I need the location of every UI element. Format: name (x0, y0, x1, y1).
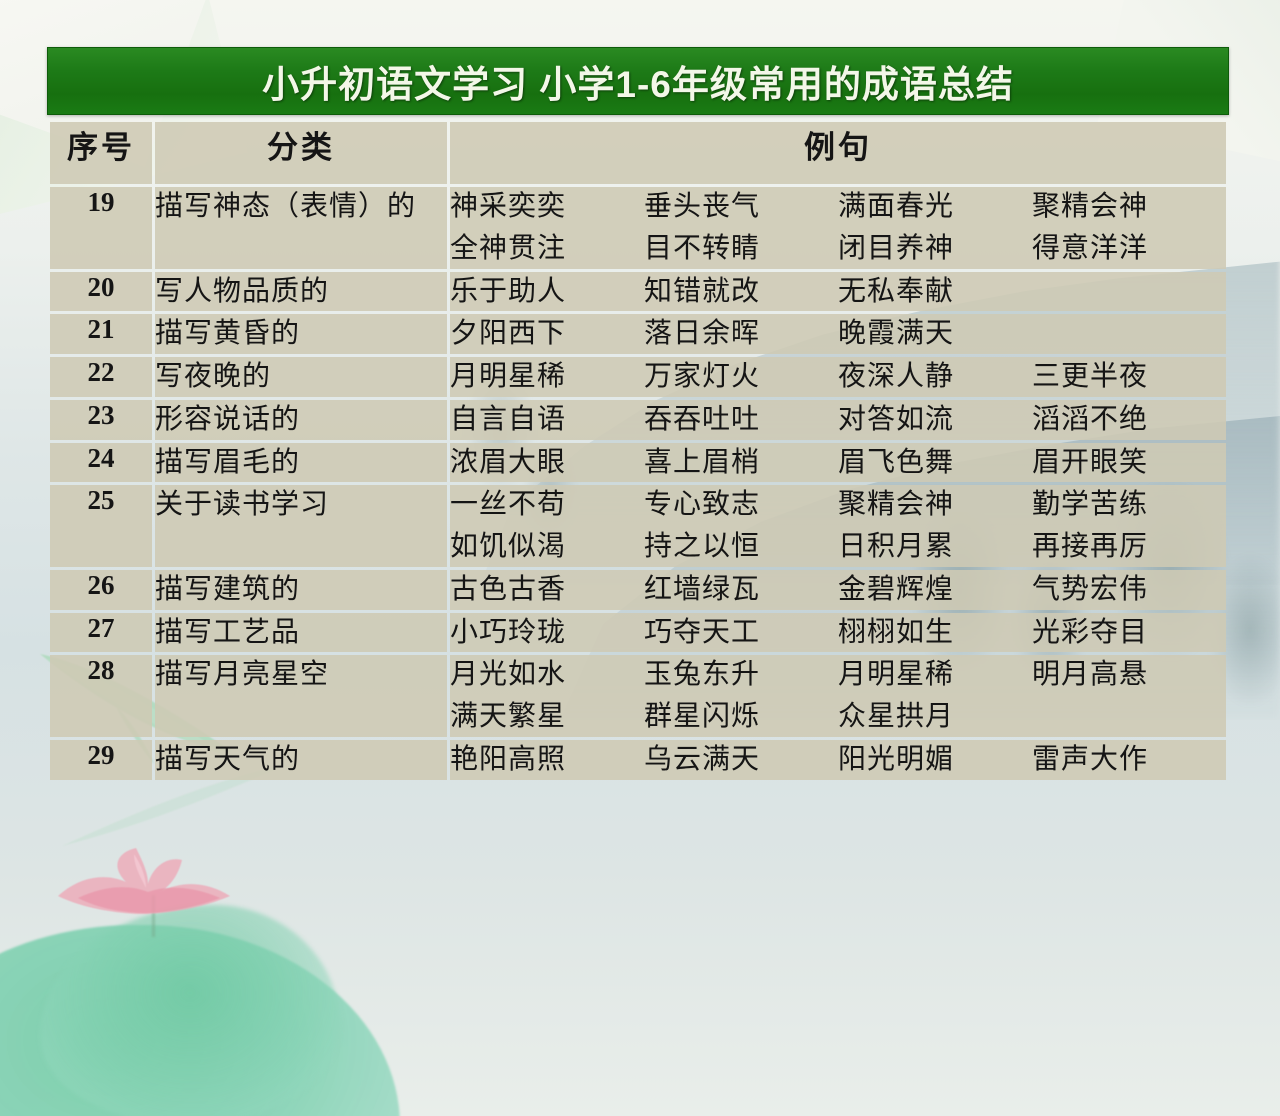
row-number-cell: 28 (50, 655, 152, 737)
idiom-item: 知错就改 (644, 272, 838, 312)
table-row: 21描写黄昏的夕阳西下落日余晖晚霞满天 (50, 314, 1226, 354)
examples-grid: 月光如水玉兔东升月明星稀明月高悬满天繁星群星闪烁众星拱月 (450, 655, 1226, 737)
category-cell: 描写眉毛的 (155, 443, 447, 483)
idiom-table-container: 小升初语文学习 小学1-6年级常用的成语总结 序号 分类 例句 19描写神态（表… (47, 47, 1229, 783)
row-number-cell: 22 (50, 357, 152, 397)
idiom-item: 夜深人静 (838, 357, 1032, 397)
idiom-item: 阳光明媚 (838, 740, 1032, 780)
idiom-item: 三更半夜 (1032, 357, 1226, 397)
examples-grid: 自言自语吞吞吐吐对答如流滔滔不绝 (450, 400, 1226, 440)
idiom-item: 月明星稀 (450, 357, 644, 397)
table-row: 28描写月亮星空月光如水玉兔东升月明星稀明月高悬满天繁星群星闪烁众星拱月 (50, 655, 1226, 737)
table-row: 29描写天气的艳阳高照乌云满天阳光明媚雷声大作 (50, 740, 1226, 780)
idiom-item: 月明星稀 (838, 655, 1032, 695)
row-number-cell: 24 (50, 443, 152, 483)
idiom-item: 专心致志 (644, 485, 838, 525)
idiom-item: 光彩夺目 (1032, 613, 1226, 653)
idiom-item: 月光如水 (450, 655, 644, 695)
idiom-item: 得意洋洋 (1032, 229, 1226, 269)
page-title: 小升初语文学习 小学1-6年级常用的成语总结 (262, 54, 1014, 108)
idiom-item: 勤学苦练 (1032, 485, 1226, 525)
idiom-item: 日积月累 (838, 527, 1032, 567)
category-cell: 形容说话的 (155, 400, 447, 440)
idiom-item: 神采奕奕 (450, 187, 644, 227)
idiom-item: 目不转睛 (644, 229, 838, 269)
idiom-item: 如饥似渴 (450, 527, 644, 567)
examples-cell: 神采奕奕垂头丧气满面春光聚精会神全神贯注目不转睛闭目养神得意洋洋 (450, 187, 1226, 269)
category-cell: 写人物品质的 (155, 272, 447, 312)
category-cell: 描写工艺品 (155, 613, 447, 653)
idiom-item: 吞吞吐吐 (644, 400, 838, 440)
slide-page: 小升初语文学习 小学1-6年级常用的成语总结 序号 分类 例句 19描写神态（表… (0, 0, 1280, 1116)
idiom-item: 聚精会神 (1032, 187, 1226, 227)
idiom-item: 喜上眉梢 (644, 443, 838, 483)
idiom-item: 眉飞色舞 (838, 443, 1032, 483)
idiom-item: 万家灯火 (644, 357, 838, 397)
idiom-item: 众星拱月 (838, 697, 1032, 737)
idiom-item: 自言自语 (450, 400, 644, 440)
column-header-number: 序号 (50, 122, 152, 184)
idiom-item: 落日余晖 (644, 314, 838, 354)
category-cell: 描写神态（表情）的 (155, 187, 447, 269)
row-number-cell: 23 (50, 400, 152, 440)
idiom-item: 一丝不苟 (450, 485, 644, 525)
idiom-item: 巧夺天工 (644, 613, 838, 653)
examples-grid: 一丝不苟专心致志聚精会神勤学苦练如饥似渴持之以恒日积月累再接再厉 (450, 485, 1226, 567)
idiom-item: 无私奉献 (838, 272, 1032, 312)
examples-grid: 古色古香红墙绿瓦金碧辉煌气势宏伟 (450, 570, 1226, 610)
table-row: 27描写工艺品小巧玲珑巧夺天工栩栩如生光彩夺目 (50, 613, 1226, 653)
idiom-item: 乐于助人 (450, 272, 644, 312)
idiom-item: 持之以恒 (644, 527, 838, 567)
row-number-cell: 27 (50, 613, 152, 653)
idiom-item: 气势宏伟 (1032, 570, 1226, 610)
table-row: 23形容说话的自言自语吞吞吐吐对答如流滔滔不绝 (50, 400, 1226, 440)
lotus-flower-icon (48, 838, 248, 916)
examples-grid: 乐于助人知错就改无私奉献 (450, 272, 1226, 312)
idiom-item: 乌云满天 (644, 740, 838, 780)
idiom-item: 聚精会神 (838, 485, 1032, 525)
idiom-item: 群星闪烁 (644, 697, 838, 737)
table-row: 24描写眉毛的浓眉大眼喜上眉梢眉飞色舞眉开眼笑 (50, 443, 1226, 483)
idiom-item: 闭目养神 (838, 229, 1032, 269)
row-number-cell: 25 (50, 485, 152, 567)
column-header-examples: 例句 (450, 122, 1226, 184)
examples-cell: 小巧玲珑巧夺天工栩栩如生光彩夺目 (450, 613, 1226, 653)
examples-cell: 古色古香红墙绿瓦金碧辉煌气势宏伟 (450, 570, 1226, 610)
examples-grid: 小巧玲珑巧夺天工栩栩如生光彩夺目 (450, 613, 1226, 653)
idiom-item: 小巧玲珑 (450, 613, 644, 653)
row-number-cell: 26 (50, 570, 152, 610)
table-row: 26描写建筑的古色古香红墙绿瓦金碧辉煌气势宏伟 (50, 570, 1226, 610)
idiom-item: 古色古香 (450, 570, 644, 610)
idiom-item: 艳阳高照 (450, 740, 644, 780)
idiom-item: 满天繁星 (450, 697, 644, 737)
idiom-item: 眉开眼笑 (1032, 443, 1226, 483)
examples-grid: 浓眉大眼喜上眉梢眉飞色舞眉开眼笑 (450, 443, 1226, 483)
examples-cell: 乐于助人知错就改无私奉献 (450, 272, 1226, 312)
category-cell: 描写天气的 (155, 740, 447, 780)
idiom-item: 明月高悬 (1032, 655, 1226, 695)
idiom-item: 玉兔东升 (644, 655, 838, 695)
idiom-item: 滔滔不绝 (1032, 400, 1226, 440)
category-cell: 关于读书学习 (155, 485, 447, 567)
idiom-item: 晚霞满天 (838, 314, 1032, 354)
row-number-cell: 20 (50, 272, 152, 312)
column-header-category: 分类 (155, 122, 447, 184)
examples-grid: 艳阳高照乌云满天阳光明媚雷声大作 (450, 740, 1226, 780)
table-body: 19描写神态（表情）的神采奕奕垂头丧气满面春光聚精会神全神贯注目不转睛闭目养神得… (50, 187, 1226, 780)
idiom-item: 金碧辉煌 (838, 570, 1032, 610)
idiom-item: 满面春光 (838, 187, 1032, 227)
examples-grid: 神采奕奕垂头丧气满面春光聚精会神全神贯注目不转睛闭目养神得意洋洋 (450, 187, 1226, 269)
examples-cell: 浓眉大眼喜上眉梢眉飞色舞眉开眼笑 (450, 443, 1226, 483)
table-row: 19描写神态（表情）的神采奕奕垂头丧气满面春光聚精会神全神贯注目不转睛闭目养神得… (50, 187, 1226, 269)
category-cell: 描写黄昏的 (155, 314, 447, 354)
examples-cell: 自言自语吞吞吐吐对答如流滔滔不绝 (450, 400, 1226, 440)
idiom-item: 再接再厉 (1032, 527, 1226, 567)
idiom-item: 全神贯注 (450, 229, 644, 269)
examples-cell: 一丝不苟专心致志聚精会神勤学苦练如饥似渴持之以恒日积月累再接再厉 (450, 485, 1226, 567)
table-title-bar: 小升初语文学习 小学1-6年级常用的成语总结 (47, 47, 1229, 115)
table-row: 25关于读书学习一丝不苟专心致志聚精会神勤学苦练如饥似渴持之以恒日积月累再接再厉 (50, 485, 1226, 567)
idiom-item: 垂头丧气 (644, 187, 838, 227)
category-cell: 写夜晚的 (155, 357, 447, 397)
examples-cell: 艳阳高照乌云满天阳光明媚雷声大作 (450, 740, 1226, 780)
table-header-row: 序号 分类 例句 (50, 122, 1226, 184)
category-cell: 描写月亮星空 (155, 655, 447, 737)
table-row: 22写夜晚的月明星稀万家灯火夜深人静三更半夜 (50, 357, 1226, 397)
idiom-item: 浓眉大眼 (450, 443, 644, 483)
idiom-item: 对答如流 (838, 400, 1032, 440)
idiom-item: 栩栩如生 (838, 613, 1032, 653)
row-number-cell: 19 (50, 187, 152, 269)
category-cell: 描写建筑的 (155, 570, 447, 610)
examples-grid: 夕阳西下落日余晖晚霞满天 (450, 314, 1226, 354)
examples-grid: 月明星稀万家灯火夜深人静三更半夜 (450, 357, 1226, 397)
row-number-cell: 29 (50, 740, 152, 780)
idiom-item: 红墙绿瓦 (644, 570, 838, 610)
examples-cell: 月光如水玉兔东升月明星稀明月高悬满天繁星群星闪烁众星拱月 (450, 655, 1226, 737)
row-number-cell: 21 (50, 314, 152, 354)
examples-cell: 月明星稀万家灯火夜深人静三更半夜 (450, 357, 1226, 397)
idiom-table: 序号 分类 例句 19描写神态（表情）的神采奕奕垂头丧气满面春光聚精会神全神贯注… (47, 119, 1229, 783)
examples-cell: 夕阳西下落日余晖晚霞满天 (450, 314, 1226, 354)
table-row: 20写人物品质的乐于助人知错就改无私奉献 (50, 272, 1226, 312)
idiom-item: 夕阳西下 (450, 314, 644, 354)
idiom-item: 雷声大作 (1032, 740, 1226, 780)
